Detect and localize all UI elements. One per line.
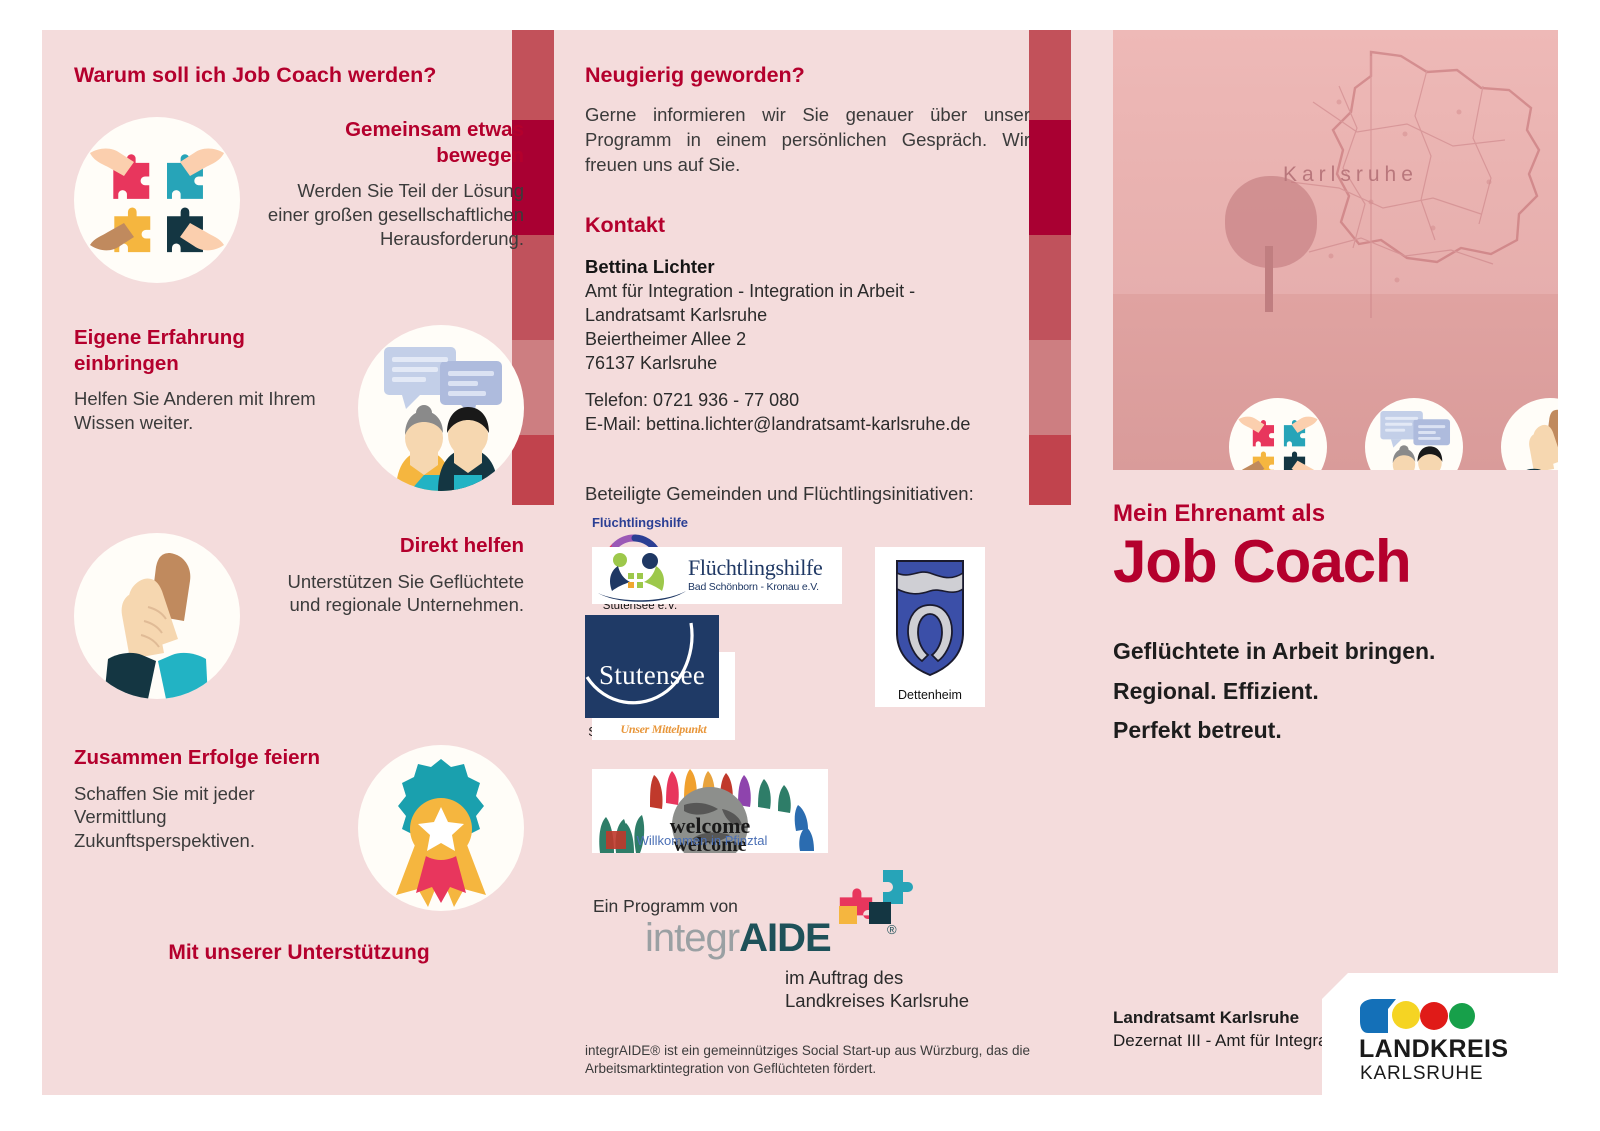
stutensee-box: Stutensee <box>585 615 719 718</box>
contact-dept: Amt für Integration - Integration in Arb… <box>585 280 1030 304</box>
contact-authority: Landratsamt Karlsruhe <box>585 304 1030 328</box>
logo-line1: Flüchtlingshilfe <box>585 515 695 530</box>
feature-title: Eigene Erfahrung einbringen <box>74 325 342 376</box>
claim-line-2: Regional. Effizient. <box>1113 672 1558 712</box>
logo-dettenheim-wappen: Dettenheim <box>875 547 985 707</box>
feature-body: Helfen Sie Anderen mit Ihrem Wissen weit… <box>74 387 342 434</box>
claim-line-1: Geflüchtete in Arbeit bringen. <box>1113 632 1558 672</box>
stripe-column-right <box>1029 30 1071 505</box>
feature-text: Direkt helfen Unterstützen Sie Geflüchte… <box>256 533 524 617</box>
contact-city: 76137 Karlsruhe <box>585 352 1030 376</box>
speech-bubbles-people-icon <box>1365 398 1463 470</box>
page-title: Job Coach <box>1113 532 1558 592</box>
contact-email[interactable]: E-Mail: bettina.lichter@landratsamt-karl… <box>585 413 1030 437</box>
contact-street: Beiertheimer Allee 2 <box>585 328 1030 352</box>
feature-text: Gemeinsam etwas bewegen Werden Sie Teil … <box>256 117 524 250</box>
disclaimer-text: integrAIDE® ist ein gemeinnütziges Socia… <box>585 1042 1030 1078</box>
partner-logos: Flüchtlingshilfe Bad Schönborn - Kronau … <box>585 515 1030 860</box>
left-closing-line: Mit unserer Unterstützung <box>74 941 524 965</box>
office-footer: Landratsamt Karlsruhe Dezernat III - Amt… <box>1113 1007 1355 1053</box>
feature-erfahrung: Eigene Erfahrung einbringen Helfen Sie A… <box>74 325 524 491</box>
program-label: Ein Programm von <box>593 896 738 917</box>
logo-text: Flüchtlingshilfe Bad Schönborn - Kronau … <box>688 557 823 593</box>
logo-line2: Dettenheim <box>875 688 985 702</box>
stripe-block-5 <box>1029 435 1071 505</box>
commission-text: im Auftrag des Landkreises Karlsruhe <box>785 966 969 1012</box>
puzzle-hands-icon <box>74 117 240 283</box>
stripe-block-4 <box>1029 340 1071 435</box>
landkreis-logo-line2: KARLSRUHE <box>1360 1063 1483 1085</box>
logo-line2: Bad Schönborn - Kronau e.V. <box>688 581 823 593</box>
feature-direkt-helfen: Direkt helfen Unterstützen Sie Geflüchte… <box>74 533 524 699</box>
integraide-puzzle-icon <box>825 868 917 938</box>
feature-body: Unterstützen Sie Geflüchtete und regiona… <box>256 570 524 617</box>
right-column: Karlsruhe <box>1071 30 1558 1095</box>
kontakt-heading: Kontakt <box>585 212 1030 239</box>
map-label: Karlsruhe <box>1283 163 1418 187</box>
puzzle-hands-icon <box>1229 398 1327 470</box>
integraide-logo-part1: integr <box>645 916 739 960</box>
feature-gemeinsam: Gemeinsam etwas bewegen Werden Sie Teil … <box>74 117 524 283</box>
claim-line-3: Perfekt betreut. <box>1113 711 1558 751</box>
landkreis-logo-line1: LANDKREIS <box>1359 1035 1508 1064</box>
office-line-1: Landratsamt Karlsruhe <box>1113 1008 1299 1027</box>
logo-line1: Flüchtlingshilfe <box>688 557 823 579</box>
award-ribbon-icon <box>358 745 524 911</box>
contact-phone[interactable]: Telefon: 0721 936 - 77 080 <box>585 389 1030 413</box>
logo-line2: Unser Mittelpunkt <box>592 722 735 737</box>
stripe-block-2 <box>1029 120 1071 235</box>
district-map-outline <box>1221 42 1551 332</box>
feature-erfolge: Zusammen Erfolge feiern Schaffen Sie mit… <box>74 745 524 911</box>
middle-lead-text: Gerne informieren wir Sie genauer über u… <box>585 103 1030 178</box>
right-title-block: Mein Ehrenamt als Job Coach Geflüchtete … <box>1113 500 1558 751</box>
feature-text: Zusammen Erfolge feiern Schaffen Sie mit… <box>74 745 342 853</box>
integraide-registered-mark: ® <box>887 922 897 937</box>
contact-name: Bettina Lichter <box>585 256 1030 278</box>
feature-text: Eigene Erfahrung einbringen Helfen Sie A… <box>74 325 342 435</box>
feature-title: Zusammen Erfolge feiern <box>74 745 342 771</box>
right-icon-strip <box>1113 398 1558 470</box>
feature-title: Gemeinsam etwas bewegen <box>256 117 524 168</box>
landkreis-logo-mark <box>1358 999 1488 1033</box>
handshake-icon <box>1501 398 1558 470</box>
landkreis-karlsruhe-logo-panel: LANDKREIS KARLSRUHE <box>1322 973 1558 1095</box>
title-kicker: Mein Ehrenamt als <box>1113 500 1558 528</box>
brochure-page: Warum soll ich Job Coach werden? Gemeins… <box>42 30 1558 1095</box>
left-heading: Warum soll ich Job Coach werden? <box>74 62 524 89</box>
stripe-block-3 <box>1029 235 1071 340</box>
integraide-logo-part2: AIDE <box>739 916 831 960</box>
integraide-logo: integrAIDE <box>645 916 831 961</box>
partners-heading: Beteiligte Gemeinden und Flüchtlingsinit… <box>585 483 1030 505</box>
handshake-icon <box>74 533 240 699</box>
speech-bubbles-people-icon <box>358 325 524 491</box>
program-block: Ein Programm von integrAIDE ® im Auftrag… <box>585 874 1030 994</box>
feature-body: Schaffen Sie mit jeder Vermittlung Zukun… <box>74 782 342 853</box>
feature-body: Werden Sie Teil der Lösung einer großen … <box>256 179 524 250</box>
logo-fluechtlingshilfe-bad-schoenborn: Flüchtlingshilfe Bad Schönborn - Kronau … <box>592 547 842 604</box>
stripe-block-1 <box>1029 30 1071 120</box>
logo-willkommen-pfinztal: welcome welcome Willkommen in Pfinztal <box>592 769 828 853</box>
middle-column: Neugierig geworden? Gerne informieren wi… <box>585 62 1030 1092</box>
feature-title: Direkt helfen <box>256 533 524 559</box>
logo-line2-text: Willkommen in Pfinztal <box>637 833 768 848</box>
middle-heading: Neugierig geworden? <box>585 62 1030 89</box>
left-column: Warum soll ich Job Coach werden? Gemeins… <box>74 62 524 965</box>
logo-line1: Stutensee <box>599 660 705 691</box>
office-line-2: Dezernat III - Amt für Integration <box>1113 1030 1355 1053</box>
